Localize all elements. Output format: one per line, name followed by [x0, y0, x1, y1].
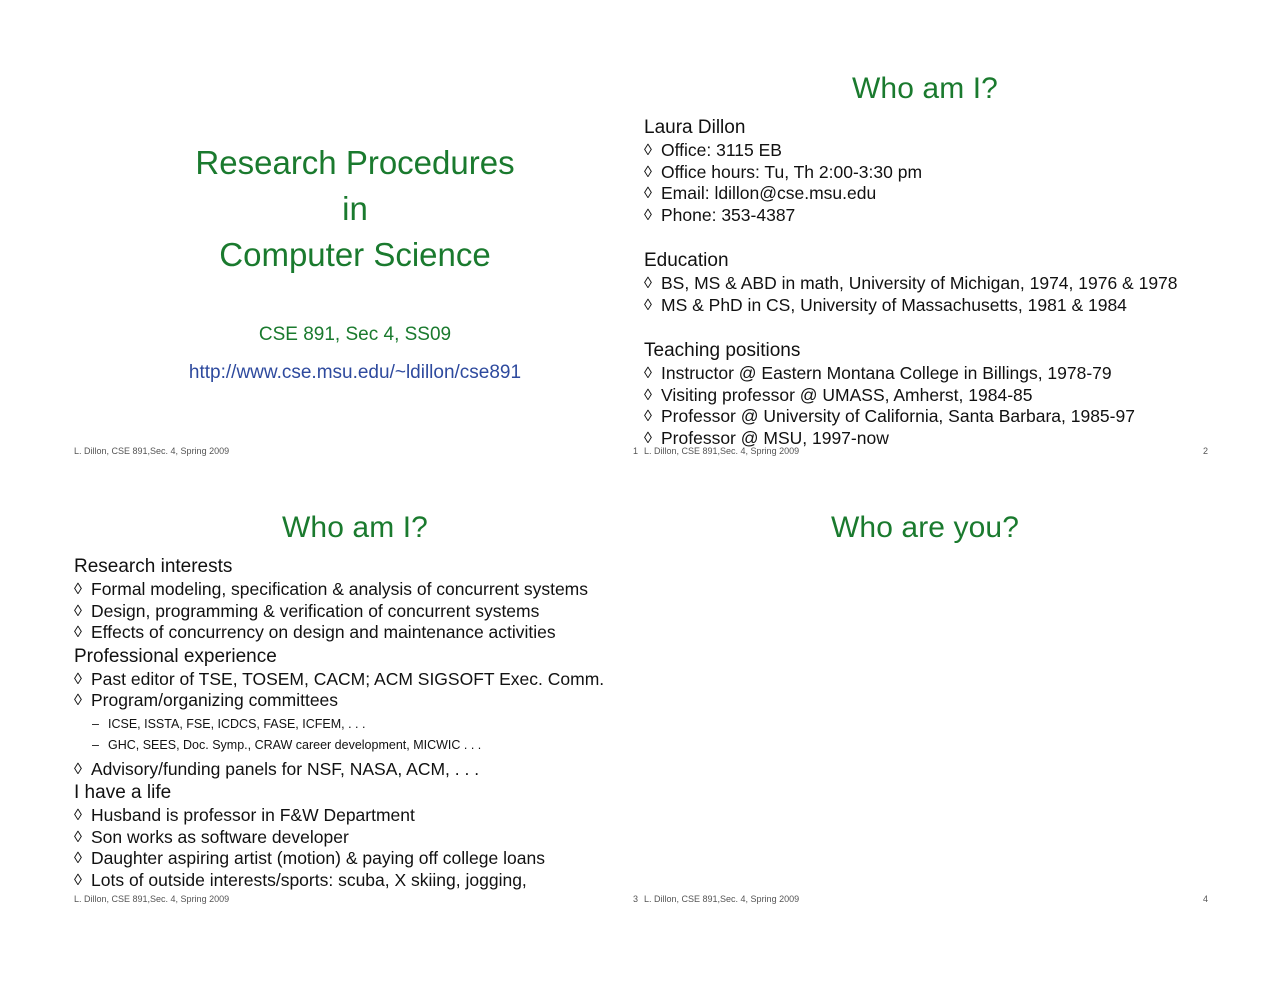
life-list: ◊Husband is professor in F&W Department … — [74, 805, 640, 891]
list-item-label: ICSE, ISSTA, FSE, ICDCS, FASE, ICFEM, . … — [108, 717, 365, 731]
footer-credit: L. Dillon, CSE 891,Sec. 4, Spring 2009 — [644, 444, 799, 458]
diamond-bullet-icon: ◊ — [74, 669, 82, 691]
list-item-label: Office hours: Tu, Th 2:00-3:30 pm — [661, 162, 922, 182]
diamond-bullet-icon: ◊ — [644, 406, 652, 428]
professional-list-cont: ◊Advisory/funding panels for NSF, NASA, … — [74, 759, 640, 781]
diamond-bullet-icon: ◊ — [644, 162, 652, 184]
diamond-bullet-icon: ◊ — [74, 690, 82, 712]
list-item: ◊Office: 3115 EB — [644, 140, 1210, 162]
slide-2-title: Who am I? — [640, 50, 1210, 107]
list-item: ◊Formal modeling, specification & analys… — [74, 579, 640, 601]
list-item-label: Program/organizing committees — [91, 690, 338, 710]
diamond-bullet-icon: ◊ — [644, 183, 652, 205]
list-item-label: GHC, SEES, Doc. Symp., CRAW career devel… — [108, 738, 481, 752]
page-number: 2 — [1203, 444, 1208, 458]
section-heading-professional: Professional experience — [74, 644, 640, 669]
education-list: ◊BS, MS & ABD in math, University of Mic… — [644, 273, 1210, 316]
section-heading-name: Laura Dillon — [644, 115, 1210, 140]
page-number: 4 — [1203, 892, 1208, 906]
list-item: ◊MS & PhD in CS, University of Massachus… — [644, 295, 1210, 317]
diamond-bullet-icon: ◊ — [74, 827, 82, 849]
contact-list: ◊Office: 3115 EB ◊Office hours: Tu, Th 2… — [644, 140, 1210, 226]
section-heading-life: I have a life — [74, 780, 640, 805]
slide-2-footer: L. Dillon, CSE 891,Sec. 4, Spring 2009 2 — [644, 444, 1208, 458]
diamond-bullet-icon: ◊ — [74, 848, 82, 870]
professional-list: ◊Past editor of TSE, TOSEM, CACM; ACM SI… — [74, 669, 640, 712]
list-item-label: Email: ldillon@cse.msu.edu — [661, 183, 876, 203]
list-item-label: Office: 3115 EB — [661, 140, 782, 160]
course-url[interactable]: http://www.cse.msu.edu/~ldillon/cse891 — [70, 347, 640, 385]
handout-sheet: Research Procedures in Computer Science … — [0, 0, 1280, 989]
list-item-label: Design, programming & verification of co… — [91, 601, 539, 621]
list-item-label: Visiting professor @ UMASS, Amherst, 198… — [661, 385, 1033, 405]
professional-sublist: –ICSE, ISSTA, FSE, ICDCS, FASE, ICFEM, .… — [74, 714, 640, 756]
list-item: ◊Visiting professor @ UMASS, Amherst, 19… — [644, 385, 1210, 407]
list-item: ◊Husband is professor in F&W Department — [74, 805, 640, 827]
diamond-bullet-icon: ◊ — [74, 805, 82, 827]
list-item: ◊Program/organizing committees — [74, 690, 640, 712]
dash-bullet-icon: – — [92, 714, 99, 735]
dash-bullet-icon: – — [92, 735, 99, 756]
spacer — [644, 226, 1210, 248]
slide-3-footer: L. Dillon, CSE 891,Sec. 4, Spring 2009 3 — [74, 892, 638, 906]
list-item-label: Past editor of TSE, TOSEM, CACM; ACM SIG… — [91, 669, 604, 689]
list-item: ◊Advisory/funding panels for NSF, NASA, … — [74, 759, 640, 781]
cover-title-line-2: in — [70, 186, 640, 232]
list-item: –ICSE, ISSTA, FSE, ICDCS, FASE, ICFEM, .… — [74, 714, 640, 735]
list-item: ◊Email: ldillon@cse.msu.edu — [644, 183, 1210, 205]
slide-1: Research Procedures in Computer Science … — [70, 50, 640, 460]
cover-title: Research Procedures in Computer Science — [70, 50, 640, 278]
list-item-label: Instructor @ Eastern Montana College in … — [661, 363, 1112, 383]
list-item-label: Phone: 353-4387 — [661, 205, 795, 225]
section-heading-research: Research interests — [74, 554, 640, 579]
footer-credit: L. Dillon, CSE 891,Sec. 4, Spring 2009 — [74, 444, 229, 458]
slide-2: Who am I? Laura Dillon ◊Office: 3115 EB … — [640, 50, 1210, 460]
slide-2-body: Who am I? Laura Dillon ◊Office: 3115 EB … — [640, 50, 1210, 434]
list-item: ◊Son works as software developer — [74, 827, 640, 849]
list-item-label: Professor @ University of California, Sa… — [661, 406, 1135, 426]
diamond-bullet-icon: ◊ — [74, 870, 82, 892]
list-item-label: MS & PhD in CS, University of Massachuse… — [661, 295, 1127, 315]
list-item-label: Formal modeling, specification & analysi… — [91, 579, 588, 599]
list-item-label: Advisory/funding panels for NSF, NASA, A… — [91, 759, 479, 779]
slide-1-footer: L. Dillon, CSE 891,Sec. 4, Spring 2009 1 — [74, 444, 638, 458]
list-item: ◊Instructor @ Eastern Montana College in… — [644, 363, 1210, 385]
list-item: ◊Design, programming & verification of c… — [74, 601, 640, 623]
slide-2-content: Laura Dillon ◊Office: 3115 EB ◊Office ho… — [640, 107, 1210, 449]
teaching-list: ◊Instructor @ Eastern Montana College in… — [644, 363, 1210, 449]
list-item: –GHC, SEES, Doc. Symp., CRAW career deve… — [74, 735, 640, 756]
footer-credit: L. Dillon, CSE 891,Sec. 4, Spring 2009 — [74, 892, 229, 906]
list-item: ◊BS, MS & ABD in math, University of Mic… — [644, 273, 1210, 295]
section-heading-teaching: Teaching positions — [644, 338, 1210, 363]
diamond-bullet-icon: ◊ — [644, 385, 652, 407]
slide-4: Who are you? L. Dillon, CSE 891,Sec. 4, … — [640, 498, 1210, 908]
cover-title-line-1: Research Procedures — [70, 140, 640, 186]
page-number: 1 — [633, 444, 638, 458]
list-item: ◊Lots of outside interests/sports: scuba… — [74, 870, 640, 892]
slide-3-content: Research interests ◊Formal modeling, spe… — [70, 546, 640, 891]
slide-1-body: Research Procedures in Computer Science … — [70, 50, 640, 434]
diamond-bullet-icon: ◊ — [644, 363, 652, 385]
list-item: ◊Phone: 353-4387 — [644, 205, 1210, 227]
spacer — [644, 316, 1210, 338]
diamond-bullet-icon: ◊ — [74, 601, 82, 623]
diamond-bullet-icon: ◊ — [74, 579, 82, 601]
list-item: ◊Daughter aspiring artist (motion) & pay… — [74, 848, 640, 870]
list-item-label: Son works as software developer — [91, 827, 349, 847]
slide-3-body: Who am I? Research interests ◊Formal mod… — [70, 498, 640, 882]
list-item-label: Husband is professor in F&W Department — [91, 805, 415, 825]
list-item-label: Lots of outside interests/sports: scuba,… — [91, 870, 527, 890]
diamond-bullet-icon: ◊ — [644, 273, 652, 295]
diamond-bullet-icon: ◊ — [644, 205, 652, 227]
diamond-bullet-icon: ◊ — [74, 759, 82, 781]
cover-title-line-3: Computer Science — [70, 232, 640, 278]
list-item-label: Daughter aspiring artist (motion) & payi… — [91, 848, 545, 868]
diamond-bullet-icon: ◊ — [644, 295, 652, 317]
slide-3-title: Who am I? — [70, 498, 640, 546]
list-item: ◊Professor @ University of California, S… — [644, 406, 1210, 428]
slide-3: Who am I? Research interests ◊Formal mod… — [70, 498, 640, 908]
page-number: 3 — [633, 892, 638, 906]
section-heading-education: Education — [644, 248, 1210, 273]
slide-4-title: Who are you? — [640, 498, 1210, 546]
diamond-bullet-icon: ◊ — [74, 622, 82, 644]
list-item: ◊Past editor of TSE, TOSEM, CACM; ACM SI… — [74, 669, 640, 691]
research-list: ◊Formal modeling, specification & analys… — [74, 579, 640, 644]
list-item-label: Effects of concurrency on design and mai… — [91, 622, 556, 642]
slide-4-footer: L. Dillon, CSE 891,Sec. 4, Spring 2009 4 — [644, 892, 1208, 906]
course-label: CSE 891, Sec 4, SS09 — [70, 278, 640, 347]
slide-4-body: Who are you? — [640, 498, 1210, 882]
list-item: ◊Effects of concurrency on design and ma… — [74, 622, 640, 644]
footer-credit: L. Dillon, CSE 891,Sec. 4, Spring 2009 — [644, 892, 799, 906]
diamond-bullet-icon: ◊ — [644, 140, 652, 162]
list-item-label: BS, MS & ABD in math, University of Mich… — [661, 273, 1178, 293]
list-item: ◊Office hours: Tu, Th 2:00-3:30 pm — [644, 162, 1210, 184]
